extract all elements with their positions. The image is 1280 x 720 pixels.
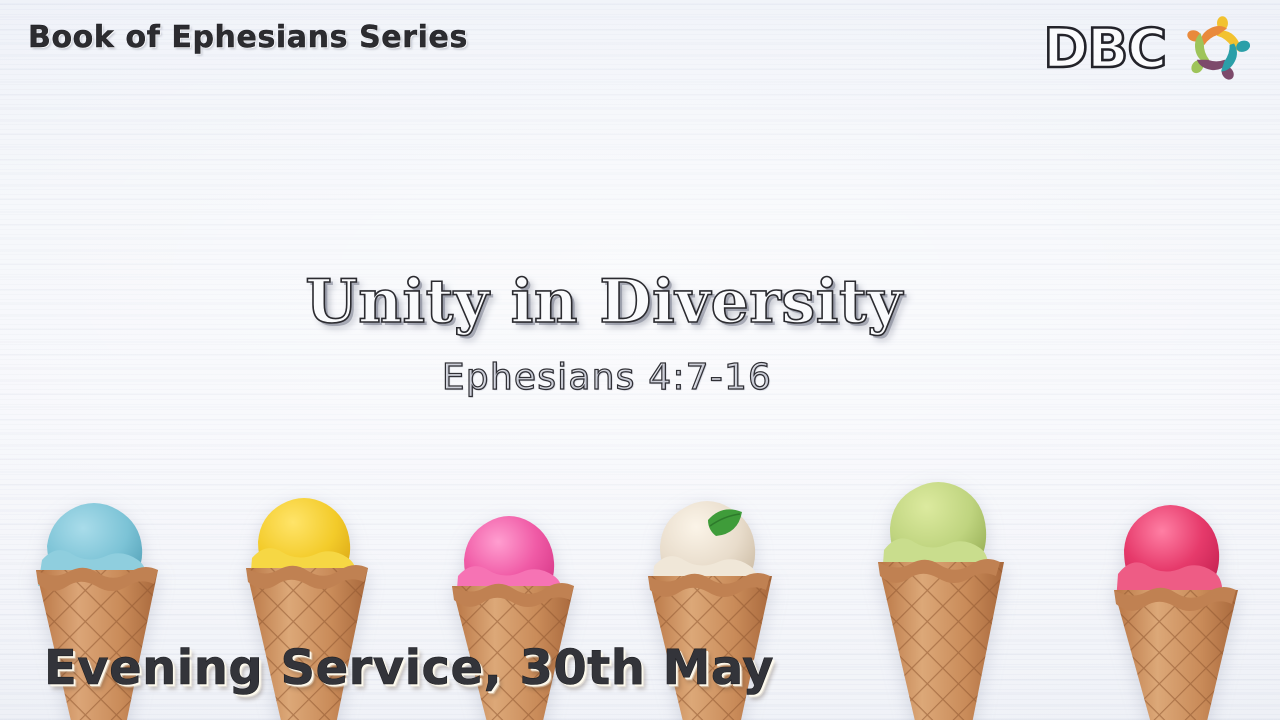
people-star-icon [1178, 10, 1256, 88]
ice-cream-cone [1066, 434, 1278, 720]
ice-cream-cone [834, 434, 1046, 720]
logo-text: DBC [1043, 22, 1166, 76]
series-label: Book of Ephesians Series [28, 20, 468, 55]
scripture-reference: Ephesians 4:7-16 [0, 360, 1280, 396]
service-line: Evening Service, 30th May [44, 644, 774, 692]
page-title: Unity in Diversity [0, 272, 1280, 332]
church-logo: DBC [1043, 10, 1256, 88]
presentation-slide: Book of Ephesians Series DBC [0, 0, 1280, 720]
